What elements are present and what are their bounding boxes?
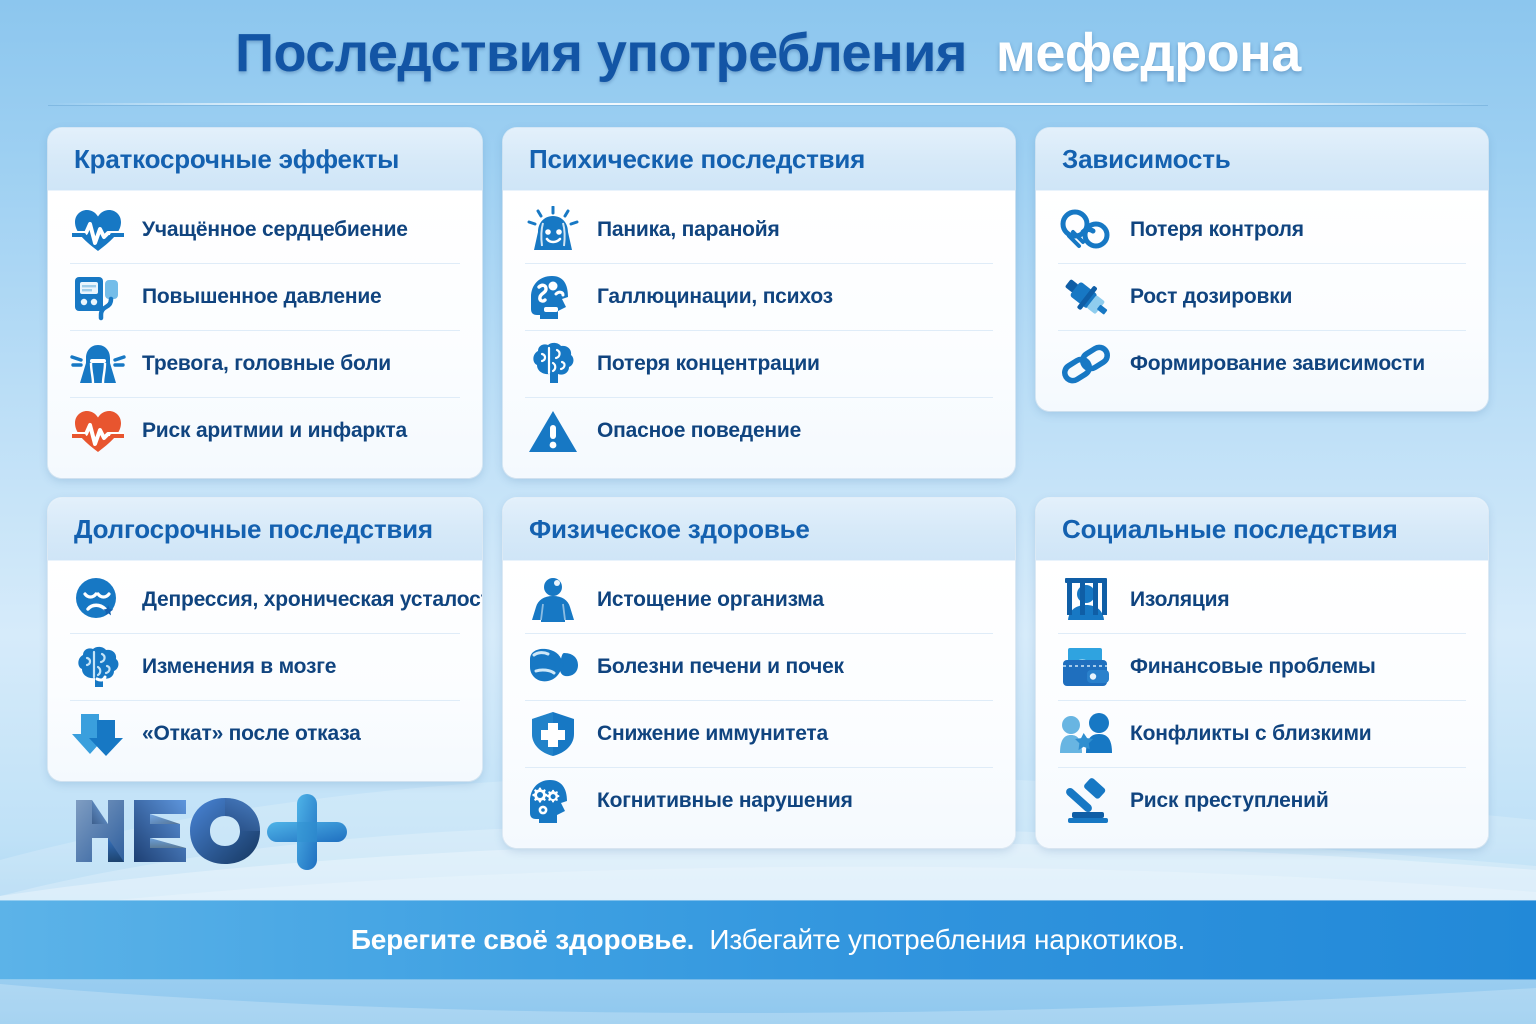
card-header: Долгосрочные последствия [48,498,482,561]
list-item[interactable]: Риск аритмии и инфаркта [70,398,460,464]
page-title-primary: Последствия употребления [235,23,967,83]
card-header: Краткосрочные эффекты [48,128,482,191]
list-item-label: Галлюцинации, психоз [597,285,833,309]
list-item[interactable]: Галлюцинации, психоз [525,264,993,331]
card-social-consequences: Социальные последствия [1036,498,1488,848]
card-title: Психические последствия [529,144,865,175]
footer-banner: Берегите своё здоровье. Избегайте употре… [0,900,1536,980]
list-item-label: «Откат» после отказа [142,722,361,746]
list-item-label: Снижение иммунитета [597,722,828,746]
card-title: Краткосрочные эффекты [74,144,399,175]
footer-message: Берегите своё здоровье. Избегайте употре… [351,924,1185,956]
list-item-label: Истощение организма [597,588,824,612]
list-item[interactable]: «Откат» после отказа [70,701,460,767]
brain-icon [525,336,581,392]
brand-logo [62,790,362,872]
list-item[interactable]: Изоляция [1058,567,1466,634]
list-item-label: Риск преступлений [1130,789,1329,813]
heart-attack-icon [70,403,126,459]
list-item-label: Опасное поведение [597,419,801,443]
chain-link-icon [1058,336,1114,392]
footer-message-regular: Избегайте употребления наркотиков. [709,924,1185,955]
list-item-label: Изоляция [1130,588,1229,612]
page-title: Последствия употребления мефедрона [0,22,1536,84]
list-item-label: Тревога, головные боли [142,352,391,376]
card-title: Зависимость [1062,144,1231,175]
gavel-icon [1058,773,1114,829]
card-body: Учащённое сердцебиение [48,191,482,478]
list-item-label: Паника, паранойя [597,218,780,242]
list-item[interactable]: Изменения в мозге [70,634,460,701]
list-item-label: Потеря концентрации [597,352,820,376]
conflict-people-icon [1058,706,1114,762]
card-physical-health: Физическое здоровье [503,498,1015,848]
card-title: Долгосрочные последствия [74,514,433,545]
hallucination-head-icon [525,269,581,325]
brain-change-icon [70,639,126,695]
list-item[interactable]: Болезни печени и почек [525,634,993,701]
card-header: Социальные последствия [1036,498,1488,561]
infographic-canvas: Последствия употребления мефедрона Кратк… [0,0,1536,1024]
panic-face-icon [525,202,581,258]
list-item-label: Рост дозировки [1130,285,1292,309]
card-long-term-consequences: Долгосрочные последствия [48,498,482,781]
exhausted-person-icon [525,572,581,628]
header: Последствия употребления мефедрона [0,0,1536,108]
list-item[interactable]: Тревога, головные боли [70,331,460,398]
list-item-label: Болезни печени и почек [597,655,844,679]
sad-face-icon [70,572,126,628]
list-item[interactable]: Опасное поведение [525,398,993,464]
card-body: Потеря контроля [1036,191,1488,411]
list-item[interactable]: Паника, паранойя [525,197,993,264]
list-item[interactable]: Потеря концентрации [525,331,993,398]
card-title: Физическое здоровье [529,514,810,545]
cards-row-1: Краткосрочные эффекты Учащённ [48,128,1488,478]
card-header: Зависимость [1036,128,1488,191]
cards-grid: Краткосрочные эффекты Учащённ [48,128,1488,848]
list-item-label: Депрессия, хроническая усталость [142,588,482,612]
liver-kidney-icon [525,639,581,695]
headache-person-icon [70,336,126,392]
list-item-label: Когнитивные нарушения [597,789,853,813]
wallet-icon [1058,639,1114,695]
list-item-label: Учащённое сердцебиение [142,218,408,242]
list-item[interactable]: Депрессия, хроническая усталость [70,567,460,634]
handcuffs-icon [1058,202,1114,258]
prison-isolation-icon [1058,572,1114,628]
card-mental-consequences: Психические последствия [503,128,1015,478]
heart-pulse-icon [70,202,126,258]
list-item[interactable]: Истощение организма [525,567,993,634]
list-item-label: Риск аритмии и инфаркта [142,419,407,443]
warning-triangle-icon [525,403,581,459]
list-item-label: Потеря контроля [1130,218,1304,242]
list-item[interactable]: Повышенное давление [70,264,460,331]
list-item[interactable]: Снижение иммунитета [525,701,993,768]
title-divider [48,103,1488,105]
background-wave-bottom [0,978,1536,1024]
card-body: Паника, паранойя [503,191,1015,478]
list-item[interactable]: Финансовые проблемы [1058,634,1466,701]
card-title: Социальные последствия [1062,514,1398,545]
down-arrows-icon [70,706,126,762]
card-body: Изоляция [1036,561,1488,848]
card-header: Физическое здоровье [503,498,1015,561]
list-item-label: Формирование зависимости [1130,352,1425,376]
list-item-label: Конфликты с близкими [1130,722,1372,746]
syringe-icon [1058,269,1114,325]
list-item-label: Финансовые проблемы [1130,655,1376,679]
card-short-term-effects: Краткосрочные эффекты Учащённ [48,128,482,478]
list-item[interactable]: Риск преступлений [1058,768,1466,834]
card-body: Депрессия, хроническая усталость Измен [48,561,482,781]
gears-head-icon [525,773,581,829]
list-item[interactable]: Когнитивные нарушения [525,768,993,834]
page-title-highlight: мефедрона [996,23,1301,83]
shield-cross-icon [525,706,581,762]
card-addiction: Зависимость [1036,128,1488,411]
list-item[interactable]: Учащённое сердцебиение [70,197,460,264]
list-item[interactable]: Потеря контроля [1058,197,1466,264]
card-body: Истощение организма [503,561,1015,848]
list-item[interactable]: Конфликты с близкими [1058,701,1466,768]
card-header: Психические последствия [503,128,1015,191]
list-item[interactable]: Формирование зависимости [1058,331,1466,397]
list-item-label: Изменения в мозге [142,655,336,679]
blood-pressure-monitor-icon [70,269,126,325]
footer-message-bold: Берегите своё здоровье. [351,924,694,955]
list-item-label: Повышенное давление [142,285,382,309]
list-item[interactable]: Рост дозировки [1058,264,1466,331]
